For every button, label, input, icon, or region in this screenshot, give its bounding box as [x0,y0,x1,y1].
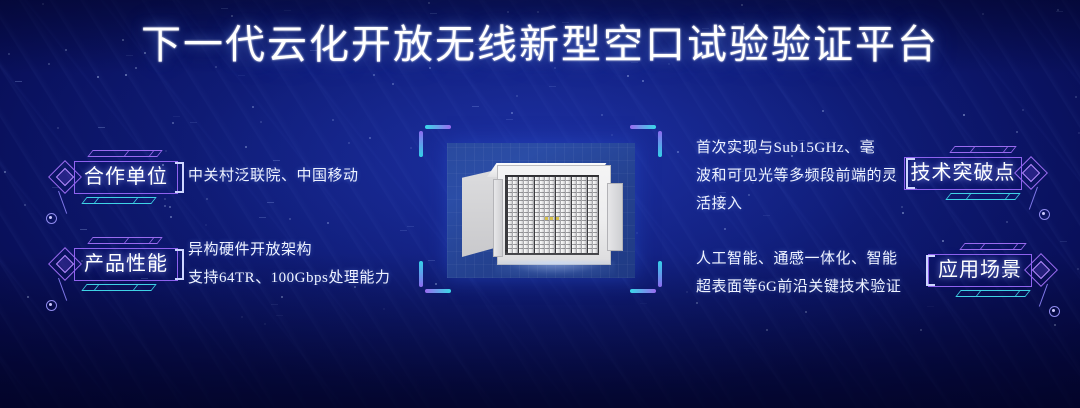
background-particle [1006,221,1008,223]
badge-cooperation-unit[interactable]: 合作单位 [48,147,198,207]
background-particle [57,127,59,129]
background-particle [80,229,87,230]
chassis-blade [561,177,566,253]
background-particle [221,8,228,9]
product-image-frame [419,125,662,293]
chassis-blade [513,177,518,253]
background-particle [348,142,350,144]
background-particle [173,116,180,117]
chassis-blade-vents [524,180,528,250]
badge-decor-bar-bottom-2 [965,193,1010,200]
background-particle [963,114,965,116]
background-particle [15,81,22,82]
chassis-blade-vents [588,180,592,250]
chassis-blade [519,177,524,253]
badge-label: 应用场景 [928,254,1032,287]
chassis-blade [577,177,582,253]
background-particle [238,75,245,76]
background-particle [1077,268,1079,270]
background-particle [289,218,291,220]
chassis-blade [582,177,587,253]
background-particle [677,151,679,153]
badge-tech-breakthrough[interactable]: 技术突破点 [898,143,1048,203]
background-particle [506,119,513,120]
chassis-blade [593,177,598,253]
background-particle [601,114,603,116]
background-particle [686,291,688,293]
badge-stem-line [1028,187,1038,210]
chassis-card-cage [505,175,599,255]
background-particle [428,2,430,4]
badge-label: 产品性能 [74,248,178,281]
chassis-blade-vents [572,180,576,250]
badge-stem-line [58,278,68,301]
background-particle [327,222,329,224]
background-particle [805,311,807,313]
body-text-cooperation-unit: 中关村泛联院、中国移动 [188,162,418,190]
chassis-blade-vents [540,180,544,250]
bracket-left-icon [926,255,935,286]
background-particle [410,147,412,149]
background-particle [724,228,726,230]
background-particle [241,316,243,318]
chassis-led-icon [556,217,559,220]
background-particle [98,127,105,128]
background-particle [332,119,334,121]
chassis-led-icon [545,217,548,220]
badge-decor-bar-bottom-2 [975,290,1020,297]
chassis-blade-vents [508,180,512,250]
badge-stem-line [58,191,68,214]
background-particle [640,303,647,304]
corner-bracket-top-left-icon [419,125,451,157]
chassis-blade [572,177,577,253]
background-particle [245,146,247,148]
badge-stem-dot-icon [46,300,57,311]
background-particle [741,4,743,6]
background-particle [4,171,6,173]
background-particle [42,3,44,5]
chassis-blade [535,177,540,253]
badge-decor-bar-top-2 [979,243,1018,250]
background-particle [125,74,127,76]
chassis-blade-vents [535,180,539,250]
chassis-blade [540,177,545,253]
background-particle [24,204,26,206]
body-text-product-performance: 异构硬件开放架构 支持64TR、100Gbps处理能力 [188,236,428,292]
background-particle [822,110,824,112]
background-particle [170,216,172,218]
chassis-blade-vents [556,180,560,250]
chassis-blade [545,177,550,253]
body-text-tech-breakthrough: 首次实现与Sub15GHz、毫 波和可见光等多频段前端的灵 活接入 [696,134,908,218]
badge-stem-dot-icon [1049,306,1060,317]
background-particle [27,296,29,298]
background-particle [190,122,197,123]
chassis-right-door [607,183,623,251]
corner-bracket-top-right-icon [630,125,662,157]
corner-bracket-bottom-right-icon [630,261,662,293]
background-particle [1057,9,1059,11]
chassis-blade-vents [593,180,597,250]
chassis-blade [556,177,561,253]
background-particle [511,112,513,114]
page-title: 下一代云化开放无线新型空口试验验证平台 [0,12,1080,70]
chassis-blade-vents [566,180,570,250]
background-particle [627,75,629,77]
chassis-blade [566,177,571,253]
badge-stem-line [1038,284,1048,307]
background-particle [407,226,414,227]
product-photo [447,143,635,278]
background-particle [260,121,262,123]
body-text-application-scenario: 人工智能、通感一体化、智能 超表面等6G前沿关键技术验证 [696,245,924,301]
background-particle [392,83,394,85]
background-particle [1016,131,1018,133]
background-particle [549,86,556,87]
background-particle [369,137,371,139]
slide-canvas: 下一代云化开放无线新型空口试验验证平台 合作单位 [0,0,1080,408]
chassis-blade [550,177,555,253]
badge-stem-dot-icon [1039,209,1050,220]
badge-label: 合作单位 [74,161,178,194]
badge-decor-bar-top-2 [969,146,1008,153]
badge-label: 技术突破点 [904,157,1022,190]
chassis-blade [508,177,513,253]
badge-application-scenario[interactable]: 应用场景 [908,240,1058,300]
background-particle [264,323,266,325]
background-particle [259,217,266,218]
background-particle [1022,109,1024,111]
chassis-left-door [493,179,503,257]
background-particle [267,202,274,203]
background-particle [1060,241,1067,242]
background-particle [696,302,698,304]
chassis-blade-vents [513,180,517,250]
bracket-right-icon [175,249,184,280]
background-particle [252,106,254,108]
badge-decor-bar-bottom-2 [93,284,138,291]
background-particle [373,74,375,76]
chassis-blade-vents [519,180,523,250]
chassis-blade-vents [550,180,554,250]
background-particle [206,198,208,200]
badge-stem-dot-icon [46,213,57,224]
background-particle [516,95,518,97]
background-particle [205,224,207,226]
badge-decor-bar-bottom-2 [93,197,138,204]
chassis-blade-vents [577,180,581,250]
background-particle [642,80,644,82]
background-particle [400,230,407,231]
chassis-led-icon [550,217,553,220]
chassis-blade-vents [561,180,565,250]
background-particle [920,329,922,331]
background-particle [1054,324,1056,326]
chassis-blade-vents [545,180,549,250]
background-particle [276,315,283,316]
chassis-blade-vents [582,180,586,250]
chassis-blade-vents [529,180,533,250]
background-particle [383,308,385,310]
badge-decor-bar-top-2 [123,237,162,244]
bracket-right-icon [175,162,184,193]
chassis-blade [529,177,534,253]
badge-product-performance[interactable]: 产品性能 [48,234,198,294]
badge-decor-bar-top-2 [123,150,162,157]
background-particle [927,306,934,307]
background-particle [97,76,99,78]
chassis-reflection [495,261,615,277]
chassis-blade [588,177,593,253]
background-particle [281,296,283,298]
background-particle [472,106,479,107]
background-particle [1075,96,1077,98]
background-particle [766,329,768,331]
background-particle [271,304,278,305]
chassis-blade [524,177,529,253]
background-particle [172,122,174,124]
